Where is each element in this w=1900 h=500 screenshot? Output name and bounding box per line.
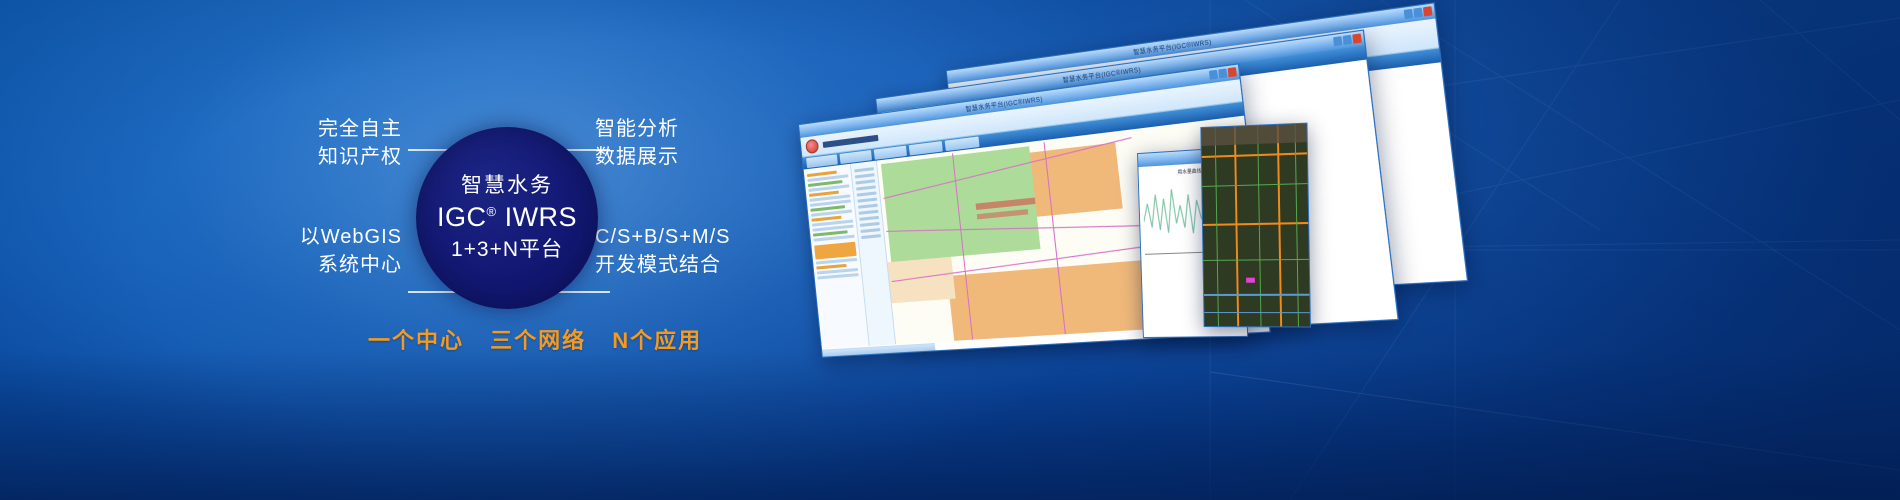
feature-label-top-right-line2: 数据展示 <box>595 143 679 171</box>
feature-label-bottom-left-line1: 以WebGIS <box>250 223 402 251</box>
feature-label-top-left: 完全自主 知识产权 <box>250 115 402 172</box>
brand-text <box>823 134 879 147</box>
feature-label-top-left-line2: 知识产权 <box>250 143 402 171</box>
feature-label-top-left-line1: 完全自主 <box>250 115 402 143</box>
close-icon[interactable] <box>1423 6 1433 16</box>
map-marker-icon[interactable] <box>1246 278 1255 283</box>
close-icon[interactable] <box>1228 67 1237 77</box>
maximize-icon[interactable] <box>1343 35 1353 45</box>
satellite-map-canvas[interactable] <box>1201 124 1310 327</box>
minimize-icon[interactable] <box>1209 70 1218 80</box>
logo-icon <box>805 138 819 154</box>
feature-label-bottom-right: C/S+B/S+M/S 开发模式结合 <box>595 223 731 280</box>
feature-label-bottom-left-line2: 系统中心 <box>250 251 402 279</box>
feature-label-bottom-left: 以WebGIS 系统中心 <box>250 223 402 280</box>
feature-label-bottom-right-line1: C/S+B/S+M/S <box>595 223 731 251</box>
core-title: 智慧水务 <box>461 173 553 199</box>
window-controls[interactable] <box>1404 6 1433 19</box>
core-brand: IGC <box>437 202 487 232</box>
banner-stage: 智慧水务 IGC® IWRS 1+3+N平台 完全自主 知识产权 以WebGIS… <box>0 0 1900 500</box>
feature-label-top-right: 智能分析 数据展示 <box>595 115 679 172</box>
core-product-code: IWRS <box>505 202 578 232</box>
window-controls[interactable] <box>1209 67 1237 80</box>
satellite-map-window[interactable] <box>1200 123 1311 328</box>
concept-diagram: 智慧水务 IGC® IWRS 1+3+N平台 完全自主 知识产权 以WebGIS… <box>250 95 810 395</box>
maximize-icon[interactable] <box>1218 68 1227 78</box>
core-platform: 1+3+N平台 <box>451 236 563 263</box>
feature-label-top-right-line1: 智能分析 <box>595 115 679 143</box>
tagline: 一个中心 三个网络 N个应用 <box>368 323 702 355</box>
core-product-name: IGC® IWRS <box>437 201 577 233</box>
minimize-icon[interactable] <box>1333 36 1342 46</box>
maximize-icon[interactable] <box>1413 7 1423 17</box>
window-controls[interactable] <box>1333 33 1362 46</box>
tagline-part1: 一个中心 <box>368 328 464 353</box>
feature-label-bottom-right-line2: 开发模式结合 <box>595 251 731 279</box>
screenshot-stack: 智慧水务平台(IGC®IWRS) <box>790 35 1880 365</box>
close-icon[interactable] <box>1352 33 1362 43</box>
registered-trademark-icon: ® <box>486 204 496 219</box>
core-circle: 智慧水务 IGC® IWRS 1+3+N平台 <box>416 127 598 309</box>
minimize-icon[interactable] <box>1404 9 1413 19</box>
tagline-part2: 三个网络 <box>490 328 586 353</box>
tagline-part3: N个应用 <box>612 328 702 353</box>
